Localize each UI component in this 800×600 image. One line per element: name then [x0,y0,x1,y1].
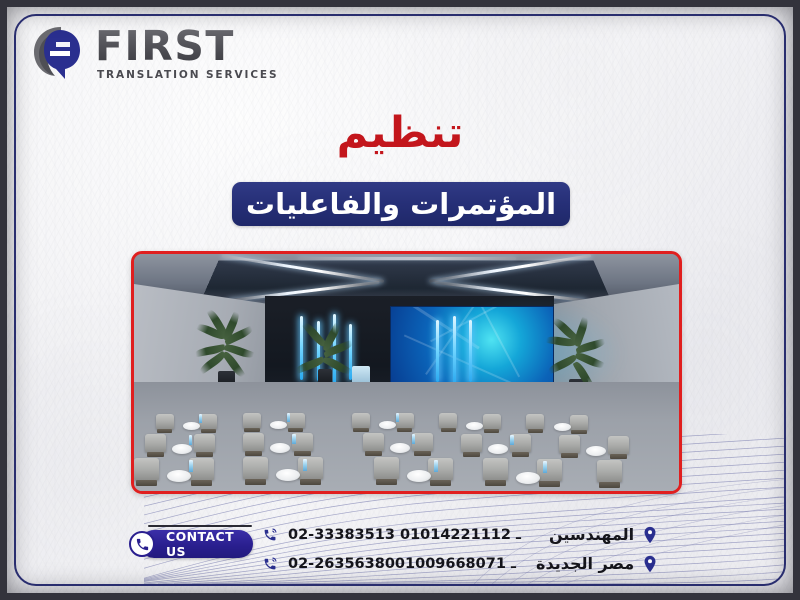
chair [570,415,588,430]
side-table [183,422,200,430]
headline-banner: المؤتمرات والفاعليات [232,182,570,226]
chair [243,433,264,451]
chair [243,413,261,428]
chair [134,458,159,480]
headline-banner-text: المؤتمرات والفاعليات [246,187,556,221]
water-bottle [434,460,438,472]
contact-us-button[interactable]: CONTACT US [140,530,253,558]
water-bottle [396,413,399,422]
brand-tagline: TRANSLATION SERVICES [97,70,278,81]
phone-row: 02-26356380ـ 01009668071 [262,551,521,576]
brand-name: FIRST [95,26,278,67]
water-bottle [303,459,307,471]
water-bottle [189,435,193,445]
headline-top-text: تنظيم [337,108,464,158]
side-table [172,444,192,454]
water-bottle [412,434,416,444]
water-bottle [199,414,202,423]
neon-light-bar [469,320,472,382]
potted-plant [303,334,347,386]
side-table [276,469,300,481]
contact-us-label: CONTACT US [166,529,253,559]
chair [559,435,580,453]
water-bottle [287,413,290,422]
contact-bar: CONTACT US 02-33383513 ـ 01014221112 [0,512,800,584]
side-table [167,470,191,482]
chair [597,460,622,482]
poster-canvas: FIRST TRANSLATION SERVICES تنظيم المؤتمر… [0,0,800,600]
chair [439,413,457,428]
first-f-logo-icon [30,24,86,82]
ringing-phone-icon [262,526,279,543]
side-table [390,443,410,453]
chair [483,414,501,429]
chair [537,459,562,481]
side-table [407,470,431,482]
conference-hall-photo [131,251,682,494]
ringing-phone-icon [262,555,279,572]
chair [298,457,323,479]
chair [526,414,544,429]
chair [194,434,215,452]
water-bottle [189,460,193,472]
chair [363,433,384,451]
chair [483,458,508,480]
map-pin-icon [643,526,657,544]
phone-row: 02-33383513 ـ 01014221112 [262,522,521,547]
location-list: المهندسين مصر الجديدة [536,522,657,580]
location-name: المهندسين [549,525,634,544]
phone-handset-icon [129,531,155,557]
phone-number-list: 02-33383513 ـ 01014221112 02-26356380ـ 0… [262,522,521,580]
chair [145,434,166,452]
neon-light-bar [453,316,456,384]
water-bottle [543,461,547,473]
water-bottle [292,434,296,444]
location-row: مصر الجديدة [536,551,657,576]
phone-numbers-text: 02-26356380ـ 01009668071 [288,556,516,572]
potted-plant [199,326,253,388]
phone-numbers-text: 02-33383513 ـ 01014221112 [288,527,521,543]
chair [243,457,268,479]
chair [608,436,629,454]
chair [412,433,433,451]
side-table [554,423,571,431]
chair [428,458,453,480]
brand-logo: FIRST TRANSLATION SERVICES [30,24,278,82]
chair [461,434,482,452]
chair [156,414,174,429]
chair [199,414,217,429]
contact-button-accent-line [148,525,252,527]
ceiling-light-strip [298,257,516,260]
chair [374,457,399,479]
location-name: مصر الجديدة [536,554,634,573]
conference-hall-scene [134,254,679,491]
chair [352,413,370,428]
map-pin-icon [643,555,657,573]
headline-top: تنظيم [0,108,800,158]
location-row: المهندسين [536,522,657,547]
water-bottle [510,435,514,445]
side-table [516,472,540,484]
